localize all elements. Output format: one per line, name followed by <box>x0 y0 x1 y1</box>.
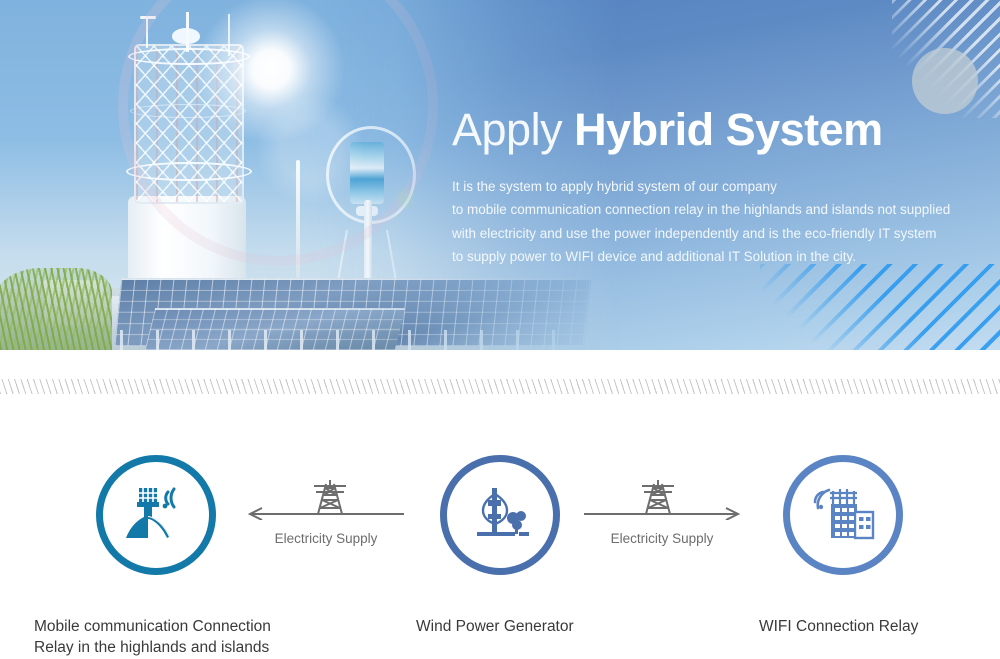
node-label-wind-power-generator: Wind Power Generator <box>416 616 574 637</box>
diagram-node-mobile-communication-relay[interactable] <box>96 455 216 575</box>
photo-solar-frame <box>120 330 586 350</box>
vertical-wind-turbine-icon <box>469 484 531 546</box>
node-label-line: Wind Power Generator <box>416 616 574 637</box>
node-label-line: Mobile communication Connection <box>34 616 271 637</box>
hatch-divider <box>0 379 1000 394</box>
node-label-wifi-connection-relay: WIFI Connection Relay <box>759 616 918 637</box>
page-title-bold: Hybrid System <box>574 104 883 155</box>
page-title-thin: Apply <box>452 104 574 155</box>
decorative-circle-top-right <box>912 48 978 114</box>
communication-tower-on-hill-wifi-icon <box>124 486 188 544</box>
node-label-mobile-communication-relay: Mobile communication Connection Relay in… <box>34 616 271 659</box>
flow-label: Electricity Supply <box>246 531 406 546</box>
hero-description: It is the system to apply hybrid system … <box>452 175 982 268</box>
hybrid-system-diagram: Mobile communication Connection Relay in… <box>0 430 1000 652</box>
diagram-node-wifi-connection-relay[interactable] <box>783 455 903 575</box>
photo-lens-flare-dot <box>392 186 418 212</box>
buildings-antenna-wifi-icon <box>811 486 875 544</box>
page-title: Apply Hybrid System <box>452 106 982 153</box>
diagram-node-wind-power-generator[interactable] <box>440 455 560 575</box>
photo-sun-glare <box>196 0 346 144</box>
power-pylon-icon <box>246 478 406 520</box>
node-ring <box>96 455 216 575</box>
node-ring <box>783 455 903 575</box>
hero-description-line: with electricity and use the power indep… <box>452 222 982 245</box>
hero-banner: Apply Hybrid System It is the system to … <box>0 0 1000 350</box>
node-label-line: WIFI Connection Relay <box>759 616 918 637</box>
diagram-flow-right: Electricity Supply <box>582 478 742 546</box>
diagram-flow-left: Electricity Supply <box>246 478 406 546</box>
node-ring <box>440 455 560 575</box>
node-label-line: Relay in the highlands and islands <box>34 637 271 658</box>
hero-description-line: It is the system to apply hybrid system … <box>452 175 982 198</box>
hero-description-line: to supply power to WIFI device and addit… <box>452 245 982 268</box>
diagonal-stripes-bottom-right <box>760 264 1000 350</box>
flow-label: Electricity Supply <box>582 531 742 546</box>
hero-description-line: to mobile communication connection relay… <box>452 198 982 221</box>
photo-grass <box>0 268 112 350</box>
hero-text-block: Apply Hybrid System It is the system to … <box>452 106 982 268</box>
power-pylon-icon <box>582 478 742 520</box>
